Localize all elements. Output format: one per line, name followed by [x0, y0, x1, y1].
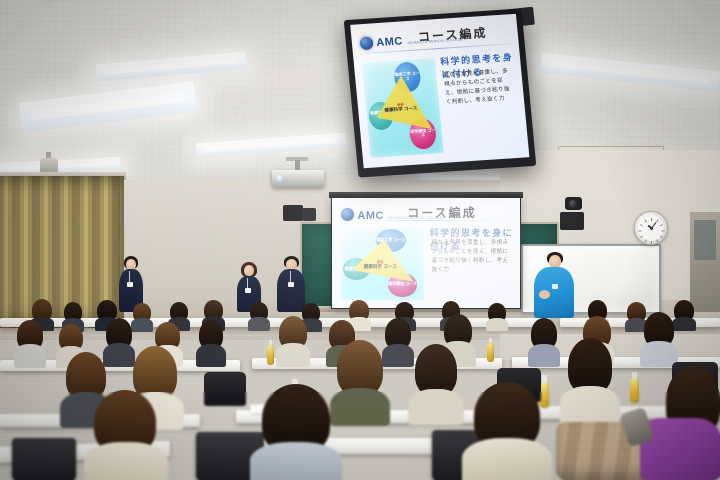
lanyard	[129, 271, 130, 282]
drink-bottle	[630, 378, 639, 403]
audience-member	[408, 344, 464, 422]
slide-on-monitor: AMC ADVANCED MEDICAL COLLEGE コース編成 科学的思考…	[350, 14, 529, 168]
hand	[539, 290, 550, 299]
slide-projected: AMC ADVANCED MEDICAL COLLEGE コース編成 科学的思考…	[332, 198, 520, 308]
drink-bottle	[487, 343, 494, 362]
audience-member	[248, 302, 270, 330]
slide-logo-text: AMC	[357, 210, 384, 222]
id-badge	[552, 284, 558, 289]
camera-lens-icon	[569, 200, 577, 208]
id-badge	[127, 282, 133, 287]
wall-clock	[634, 211, 668, 245]
slide-title: コース編成	[407, 204, 476, 221]
amc-logo-mark-icon	[360, 36, 374, 50]
audience-member-foreground	[640, 396, 720, 480]
id-badge	[288, 282, 294, 287]
diagram-center-course: 健康科学 コース	[364, 264, 397, 269]
clock-center-pin	[650, 227, 653, 230]
classroom-photo: AMC ADVANCED MEDICAL COLLEGE コース編成 科学的思考…	[0, 0, 720, 480]
backpack	[204, 372, 246, 406]
audience-member-foreground	[462, 382, 552, 480]
audience-member	[486, 303, 508, 330]
ceiling-monitor: AMC ADVANCED MEDICAL COLLEGE コース編成 科学的思考…	[344, 8, 537, 177]
audience-member-foreground	[84, 390, 168, 480]
lanyard	[247, 278, 248, 288]
door-window	[694, 220, 716, 260]
audience-member	[276, 316, 310, 366]
audience-member	[528, 318, 560, 366]
wall-speaker	[302, 208, 316, 221]
audience-member	[560, 338, 620, 422]
id-badge	[245, 288, 251, 293]
slide-body-text: 異なる意見を尊重し、多視点からものごとを捉え、根拠に基づき粘り強く判断し、考え抜…	[443, 67, 516, 108]
audience-member-foreground	[250, 384, 342, 480]
head	[244, 265, 254, 276]
drink-bottle	[267, 345, 274, 365]
diagram-center-course: 健康科学 コース	[384, 105, 418, 112]
slide-logo-text: AMC	[376, 35, 404, 49]
presenter-blue-jacket	[534, 252, 574, 318]
amc-logo-mark-icon	[341, 208, 354, 221]
slide-body-text: 異なる意見を尊重し、多視点からものごとを捉え、根拠に基づき粘り強く判断し、考え抜…	[432, 239, 511, 275]
audience-member	[14, 320, 46, 366]
chair	[12, 438, 76, 480]
wall-speaker	[560, 212, 584, 230]
audience-member	[640, 312, 678, 366]
wall-speaker	[283, 205, 303, 221]
diagram-center-label: 新設 健康科学 コース	[358, 260, 403, 270]
slide-title: コース編成	[417, 24, 488, 46]
clock-face	[638, 215, 664, 241]
projector-lens-icon	[276, 174, 285, 183]
audience-member	[196, 320, 226, 366]
slide-diagram: 臨床工学 コース 看護学 コース 理学療法 コース 新設 健康科学 コース	[362, 58, 444, 157]
slide-diagram: 臨床工学 コース 看護学 コース 理学療法 コース 新設 健康科学 コース	[341, 228, 424, 301]
projection-screen: AMC ADVANCED MEDICAL COLLEGE コース編成 科学的思考…	[331, 197, 521, 309]
lanyard	[290, 271, 291, 282]
